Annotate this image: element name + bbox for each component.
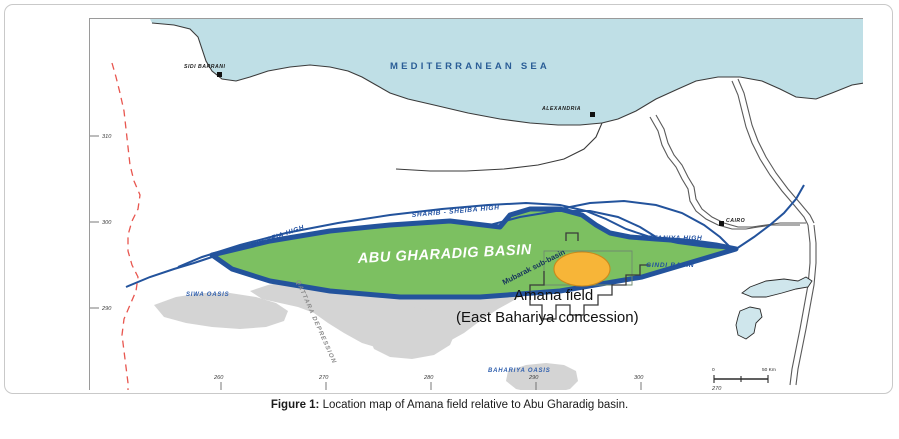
map-plate: MEDITERRANEAN SEA SIDI BARRANI ALEXANDRI…	[89, 18, 863, 390]
amana-field-label: Amana field	[514, 287, 593, 304]
scale-bar-min-label: 0	[712, 367, 715, 373]
mediterranean-sea-shape	[150, 19, 863, 125]
birket-qarun-lake	[736, 307, 762, 339]
oasis-label-bahariya: BAHARIYA OASIS	[488, 368, 551, 374]
axis-tick-bottom-0: 260	[213, 375, 224, 381]
figure-page: MEDITERRANEAN SEA SIDI BARRANI ALEXANDRI…	[0, 0, 899, 439]
oasis-label-siwa: SIWA OASIS	[186, 292, 229, 298]
city-label-sidi-barrani: SIDI BARRANI	[184, 64, 226, 70]
axis-ticks-left	[90, 136, 99, 308]
sea-label: MEDITERRANEAN SEA	[390, 61, 550, 72]
figure-number: Figure 1:	[271, 399, 320, 411]
location-map: MEDITERRANEAN SEA SIDI BARRANI ALEXANDRI…	[90, 19, 863, 390]
basin-label-gindi: GINDI BASIN	[646, 262, 694, 269]
axis-tick-left-0: 310	[102, 134, 112, 140]
figure-caption-text: Location map of Amana field relative to …	[319, 399, 628, 411]
amana-concession-label: (East Bahariya concession)	[456, 309, 639, 326]
delta-coast	[396, 123, 602, 171]
libya-border-dashed	[112, 63, 140, 390]
axis-tick-bottom-2: 280	[423, 375, 434, 381]
scale-bar	[714, 375, 768, 383]
axis-tick-bottom-1: 270	[318, 375, 329, 381]
axis-tick-left-1: 300	[102, 220, 112, 226]
figure-caption: Figure 1: Location map of Amana field re…	[0, 399, 899, 411]
scale-bar-sub-label: 270	[711, 386, 722, 390]
nile-river-system	[650, 79, 816, 385]
wadi-el-natrun-lake	[742, 277, 812, 297]
city-label-cairo: CAIRO	[726, 218, 745, 224]
axis-tick-bottom-3: 290	[528, 375, 539, 381]
axis-tick-bottom-4: 300	[634, 375, 644, 381]
high-label-kattaniya: KATTANIYA HIGH	[638, 235, 703, 242]
scale-bar-max-label: 50 Km	[762, 367, 776, 373]
axis-ticks-bottom	[221, 382, 641, 390]
high-label-sharib-sheiba: SHARIB - SHEIBA HIGH	[412, 204, 500, 219]
axis-tick-left-2: 290	[101, 306, 112, 312]
city-label-alexandria: ALEXANDRIA	[541, 106, 581, 112]
